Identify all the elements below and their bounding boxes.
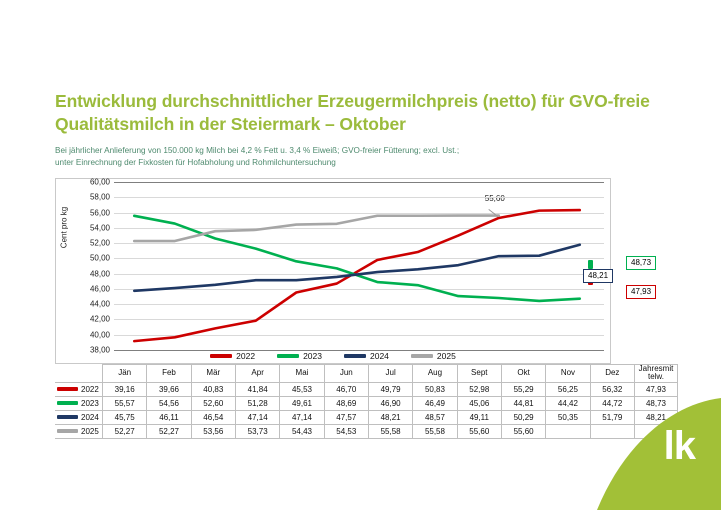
table-cell: 46,90: [368, 396, 412, 410]
table-cell: 55,29: [501, 382, 545, 396]
table-cell: 55,57: [103, 396, 147, 410]
table-col-header-Jän: Jän: [103, 365, 147, 383]
table-cell: 54,56: [147, 396, 191, 410]
table-col-header-Apr: Apr: [235, 365, 279, 383]
table-cell: 52,60: [191, 396, 235, 410]
legend-label-2023: 2023: [303, 351, 322, 361]
y-axis-tick-label: 48,00: [90, 269, 110, 278]
table-body: 202239,1639,6640,8341,8445,5346,7049,795…: [55, 382, 678, 438]
table-cell: 55,58: [413, 424, 457, 438]
table-cell: [590, 424, 634, 438]
y-axis-tick-label: 56,00: [90, 208, 110, 217]
table-cell: 49,79: [368, 382, 412, 396]
legend-swatch-2023: [277, 354, 299, 358]
table-cell: 47,14: [235, 410, 279, 424]
table-cell: 54,43: [280, 424, 324, 438]
table-head: JänFebMärAprMaiJunJulAugSeptOktNovDezJah…: [55, 365, 678, 383]
series-canvas: 55,60: [114, 182, 604, 350]
callout-average-2024: 48,21: [583, 269, 613, 283]
table-col-header-Okt: Okt: [501, 365, 545, 383]
legend-label-2025: 2025: [437, 351, 456, 361]
table-col-header-Dez: Dez: [590, 365, 634, 383]
table-row: 202445,7546,1146,5447,1447,1447,5748,214…: [55, 410, 678, 424]
y-axis-tick-label: 60,00: [90, 178, 110, 187]
table-cell-average: 48,21: [635, 410, 678, 424]
table-cell: 44,42: [546, 396, 590, 410]
table-cell: 51,79: [590, 410, 634, 424]
series-end-marker-2023: [588, 260, 593, 269]
table-cell: 45,53: [280, 382, 324, 396]
y-axis-tick-label: 44,00: [90, 300, 110, 309]
legend-item-2025[interactable]: 2025: [411, 351, 456, 361]
table-cell: 51,28: [235, 396, 279, 410]
table-series-label-2022: 2022: [81, 385, 99, 394]
table-cell: 41,84: [235, 382, 279, 396]
table-cell: 52,27: [103, 424, 147, 438]
table-cell: 48,69: [324, 396, 368, 410]
y-axis-tick-label: 54,00: [90, 223, 110, 232]
table-row: 202239,1639,6640,8341,8445,5346,7049,795…: [55, 382, 678, 396]
table-cell: 46,49: [413, 396, 457, 410]
table-col-header-Nov: Nov: [546, 365, 590, 383]
y-axis-tick-label: 40,00: [90, 330, 110, 339]
table-col-header-Sept: Sept: [457, 365, 501, 383]
title-block: Entwicklung durchschnittlicher Erzeugerm…: [55, 90, 675, 169]
table-cell: 52,27: [147, 424, 191, 438]
lk-logo-text: lk: [664, 426, 695, 466]
table-row-series-2022: 2022: [55, 382, 103, 396]
callout-average-2023: 48,73: [626, 256, 656, 270]
table-cell: 44,72: [590, 396, 634, 410]
table-cell: 45,06: [457, 396, 501, 410]
table-cell: 47,14: [280, 410, 324, 424]
y-axis-ticks: 60,0058,0056,0054,0052,0050,0048,0046,00…: [70, 182, 110, 350]
table-corner-cell: [55, 365, 103, 383]
legend-swatch-2022: [210, 354, 232, 358]
page-title: Entwicklung durchschnittlicher Erzeugerm…: [55, 90, 675, 136]
table-cell: 50,35: [546, 410, 590, 424]
table-cell: 54,53: [324, 424, 368, 438]
table-swatch-2025: [57, 429, 78, 433]
table-swatch-2024: [57, 415, 78, 419]
series-lines: [114, 182, 600, 350]
line-series-2023: [134, 216, 580, 301]
table-row: 202355,5754,5652,6051,2849,6148,6946,904…: [55, 396, 678, 410]
table-cell-average: 48,73: [635, 396, 678, 410]
legend-label-2022: 2022: [236, 351, 255, 361]
table-cell: 50,29: [501, 410, 545, 424]
table-col-header-Jul: Jul: [368, 365, 412, 383]
legend-item-2023[interactable]: 2023: [277, 351, 322, 361]
table-cell: 45,75: [103, 410, 147, 424]
table-cell: 55,60: [501, 424, 545, 438]
table-cell: 53,56: [191, 424, 235, 438]
y-axis-tick-label: 58,00: [90, 193, 110, 202]
table-series-label-2023: 2023: [81, 399, 99, 408]
table-cell: 46,54: [191, 410, 235, 424]
table-cell: 48,21: [368, 410, 412, 424]
table-col-header-Mär: Mär: [191, 365, 235, 383]
table-col-header-Feb: Feb: [147, 365, 191, 383]
table-cell: 56,25: [546, 382, 590, 396]
table-avg-header-line-2: telw.: [635, 373, 677, 381]
table-cell-average: 47,93: [635, 382, 678, 396]
table-cell: 39,16: [103, 382, 147, 396]
table-cell: 50,83: [413, 382, 457, 396]
table-row: 202552,2752,2753,5653,7354,4354,5355,585…: [55, 424, 678, 438]
table-row-series-2024: 2024: [55, 410, 103, 424]
y-axis-tick-label: 52,00: [90, 239, 110, 248]
page-subtitle: Bei jährlicher Anlieferung von 150.000 k…: [55, 145, 675, 169]
table-series-label-2024: 2024: [81, 413, 99, 422]
y-axis-tick-label: 50,00: [90, 254, 110, 263]
legend-item-2022[interactable]: 2022: [210, 351, 255, 361]
table-cell: 44,81: [501, 396, 545, 410]
table-col-header-Mai: Mai: [280, 365, 324, 383]
table-cell: 49,11: [457, 410, 501, 424]
legend-label-2024: 2024: [370, 351, 389, 361]
legend-swatch-2025: [411, 354, 433, 358]
table-cell: 39,66: [147, 382, 191, 396]
y-axis-tick-label: 46,00: [90, 284, 110, 293]
table-cell: 49,61: [280, 396, 324, 410]
table-cell: 52,98: [457, 382, 501, 396]
table-col-header-average: Jahresmittelw.: [635, 365, 678, 383]
data-table: JänFebMärAprMaiJunJulAugSeptOktNovDezJah…: [55, 364, 678, 439]
chart-legend: 2022202320242025: [56, 351, 610, 361]
subtitle-line-1: Bei jährlicher Anlieferung von 150.000 k…: [55, 145, 675, 157]
table-cell: 40,83: [191, 382, 235, 396]
table-cell: 46,70: [324, 382, 368, 396]
line-series-2024: [134, 245, 580, 291]
table-cell: 46,11: [147, 410, 191, 424]
table-cell: 48,57: [413, 410, 457, 424]
subtitle-line-2: unter Einrechnung der Fixkosten für Hofa…: [55, 157, 675, 169]
callout-average-2022: 47,93: [626, 285, 656, 299]
table-row-series-2025: 2025: [55, 424, 103, 438]
table-cell: 55,60: [457, 424, 501, 438]
table-cell: 56,32: [590, 382, 634, 396]
table-row-series-2023: 2023: [55, 396, 103, 410]
y-axis-title: Cent pro kg: [60, 178, 69, 278]
table-cell: 47,57: [324, 410, 368, 424]
table-col-header-Jun: Jun: [324, 365, 368, 383]
chart-plot-area: Cent pro kg 60,0058,0056,0054,0052,0050,…: [55, 178, 611, 364]
table-swatch-2023: [57, 401, 78, 405]
table-header-row: JänFebMärAprMaiJunJulAugSeptOktNovDezJah…: [55, 365, 678, 383]
table-series-label-2025: 2025: [81, 427, 99, 436]
y-axis-tick-label: 42,00: [90, 315, 110, 324]
legend-swatch-2024: [344, 354, 366, 358]
table-cell: 55,58: [368, 424, 412, 438]
table-cell: 53,73: [235, 424, 279, 438]
table-swatch-2022: [57, 387, 78, 391]
table-col-header-Aug: Aug: [413, 365, 457, 383]
table-cell: [546, 424, 590, 438]
legend-item-2024[interactable]: 2024: [344, 351, 389, 361]
